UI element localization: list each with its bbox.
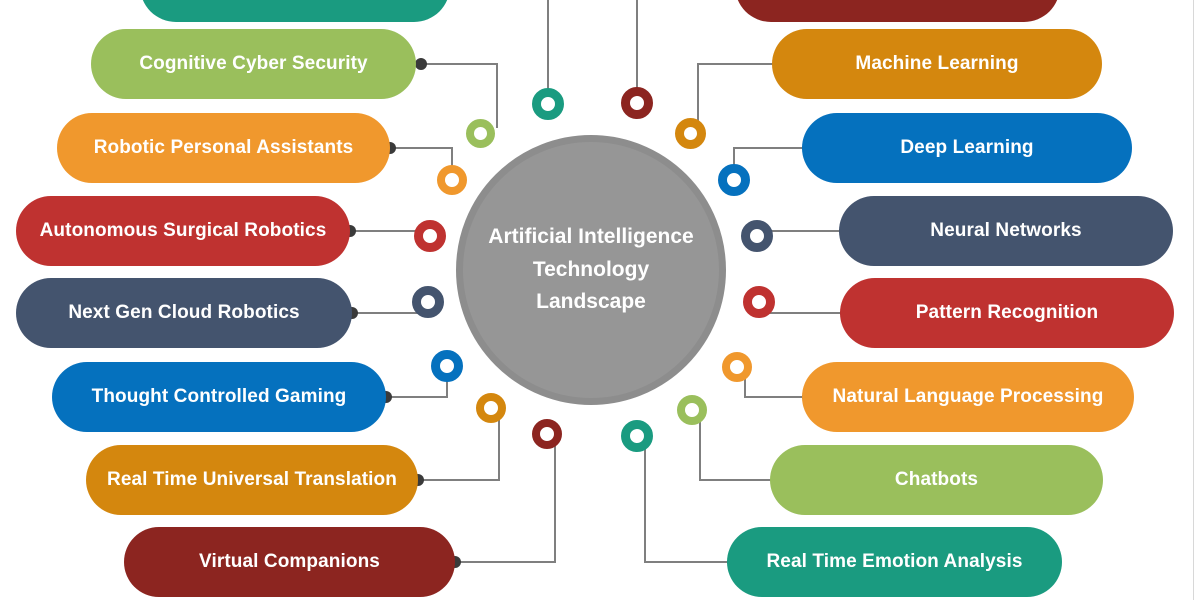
ring-left-red[interactable] bbox=[414, 220, 446, 252]
node-label: Thought Controlled Gaming bbox=[92, 386, 347, 408]
node-label: Deep Learning bbox=[900, 137, 1033, 159]
node-label: Autonomous Surgical Robotics bbox=[40, 220, 327, 242]
ring-right-red[interactable] bbox=[743, 286, 775, 318]
center-hub[interactable]: Artificial Intelligence Technology Lands… bbox=[456, 135, 726, 405]
node-pattern-recognition[interactable]: Pattern Recognition bbox=[840, 278, 1174, 348]
node-cognitive-cyber-security[interactable]: Cognitive Cyber Security bbox=[91, 29, 416, 99]
node-natural-language-processing[interactable]: Natural Language Processing bbox=[802, 362, 1134, 432]
wire-real-time-emotion-analysis bbox=[645, 444, 733, 562]
wire-real-time-universal-translation bbox=[418, 416, 499, 480]
center-hub-line1: Artificial Intelligence bbox=[488, 221, 693, 254]
node-label: Cognitive Cyber Security bbox=[139, 53, 367, 75]
wire-machine-learning bbox=[698, 64, 779, 128]
node-robotic-personal-assistants[interactable]: Robotic Personal Assistants bbox=[57, 113, 390, 183]
ring-right-green[interactable] bbox=[677, 395, 707, 425]
diagram-canvas: Cognitive Cyber Security Robotic Persona… bbox=[0, 0, 1200, 600]
node-label: Neural Networks bbox=[930, 220, 1081, 242]
node-right-darkred-cropped[interactable] bbox=[735, 0, 1060, 22]
ring-right-blue[interactable] bbox=[718, 164, 750, 196]
node-label: Pattern Recognition bbox=[916, 302, 1098, 324]
ring-right-orange[interactable] bbox=[675, 118, 706, 149]
ring-left-green[interactable] bbox=[466, 119, 495, 148]
node-label: Next Gen Cloud Robotics bbox=[68, 302, 299, 324]
node-label: Natural Language Processing bbox=[833, 386, 1104, 408]
page-right-edge bbox=[1193, 0, 1200, 600]
node-real-time-universal-translation[interactable]: Real Time Universal Translation bbox=[86, 445, 418, 515]
ring-top-teal[interactable] bbox=[532, 88, 564, 120]
center-hub-line3: Landscape bbox=[488, 286, 693, 319]
center-hub-label: Artificial Intelligence Technology Lands… bbox=[488, 221, 693, 319]
node-label: Real Time Universal Translation bbox=[107, 469, 397, 491]
node-neural-networks[interactable]: Neural Networks bbox=[839, 196, 1173, 266]
node-thought-controlled-gaming[interactable]: Thought Controlled Gaming bbox=[52, 362, 386, 432]
ring-bottom-darkred[interactable] bbox=[532, 419, 562, 449]
node-machine-learning[interactable]: Machine Learning bbox=[772, 29, 1102, 99]
ring-left-slate[interactable] bbox=[412, 286, 444, 318]
node-label: Robotic Personal Assistants bbox=[94, 137, 354, 159]
node-virtual-companions[interactable]: Virtual Companions bbox=[124, 527, 455, 597]
ring-right-slate[interactable] bbox=[741, 220, 773, 252]
ring-top-darkred[interactable] bbox=[621, 87, 653, 119]
node-label: Real Time Emotion Analysis bbox=[766, 551, 1022, 573]
node-label: Machine Learning bbox=[855, 53, 1018, 75]
node-autonomous-surgical-robotics[interactable]: Autonomous Surgical Robotics bbox=[16, 196, 350, 266]
node-deep-learning[interactable]: Deep Learning bbox=[802, 113, 1132, 183]
node-left-teal-cropped[interactable] bbox=[140, 0, 450, 22]
wire-chatbots bbox=[700, 418, 777, 480]
ring-right-orange2[interactable] bbox=[722, 352, 752, 382]
wire-cognitive-cyber-security bbox=[421, 64, 497, 128]
ring-left-orange[interactable] bbox=[437, 165, 467, 195]
node-label: Chatbots bbox=[895, 469, 978, 491]
node-real-time-emotion-analysis[interactable]: Real Time Emotion Analysis bbox=[727, 527, 1062, 597]
node-next-gen-cloud-robotics[interactable]: Next Gen Cloud Robotics bbox=[16, 278, 352, 348]
wire-virtual-companions bbox=[455, 442, 555, 562]
ring-left-goldenrod[interactable] bbox=[476, 393, 506, 423]
node-chatbots[interactable]: Chatbots bbox=[770, 445, 1103, 515]
wire-natural-language-processing bbox=[745, 373, 808, 397]
node-label: Virtual Companions bbox=[199, 551, 380, 573]
ring-left-blue[interactable] bbox=[431, 350, 463, 382]
center-hub-line2: Technology bbox=[488, 254, 693, 287]
dot-cognitive-cyber-security bbox=[415, 58, 427, 70]
ring-bottom-teal[interactable] bbox=[621, 420, 653, 452]
